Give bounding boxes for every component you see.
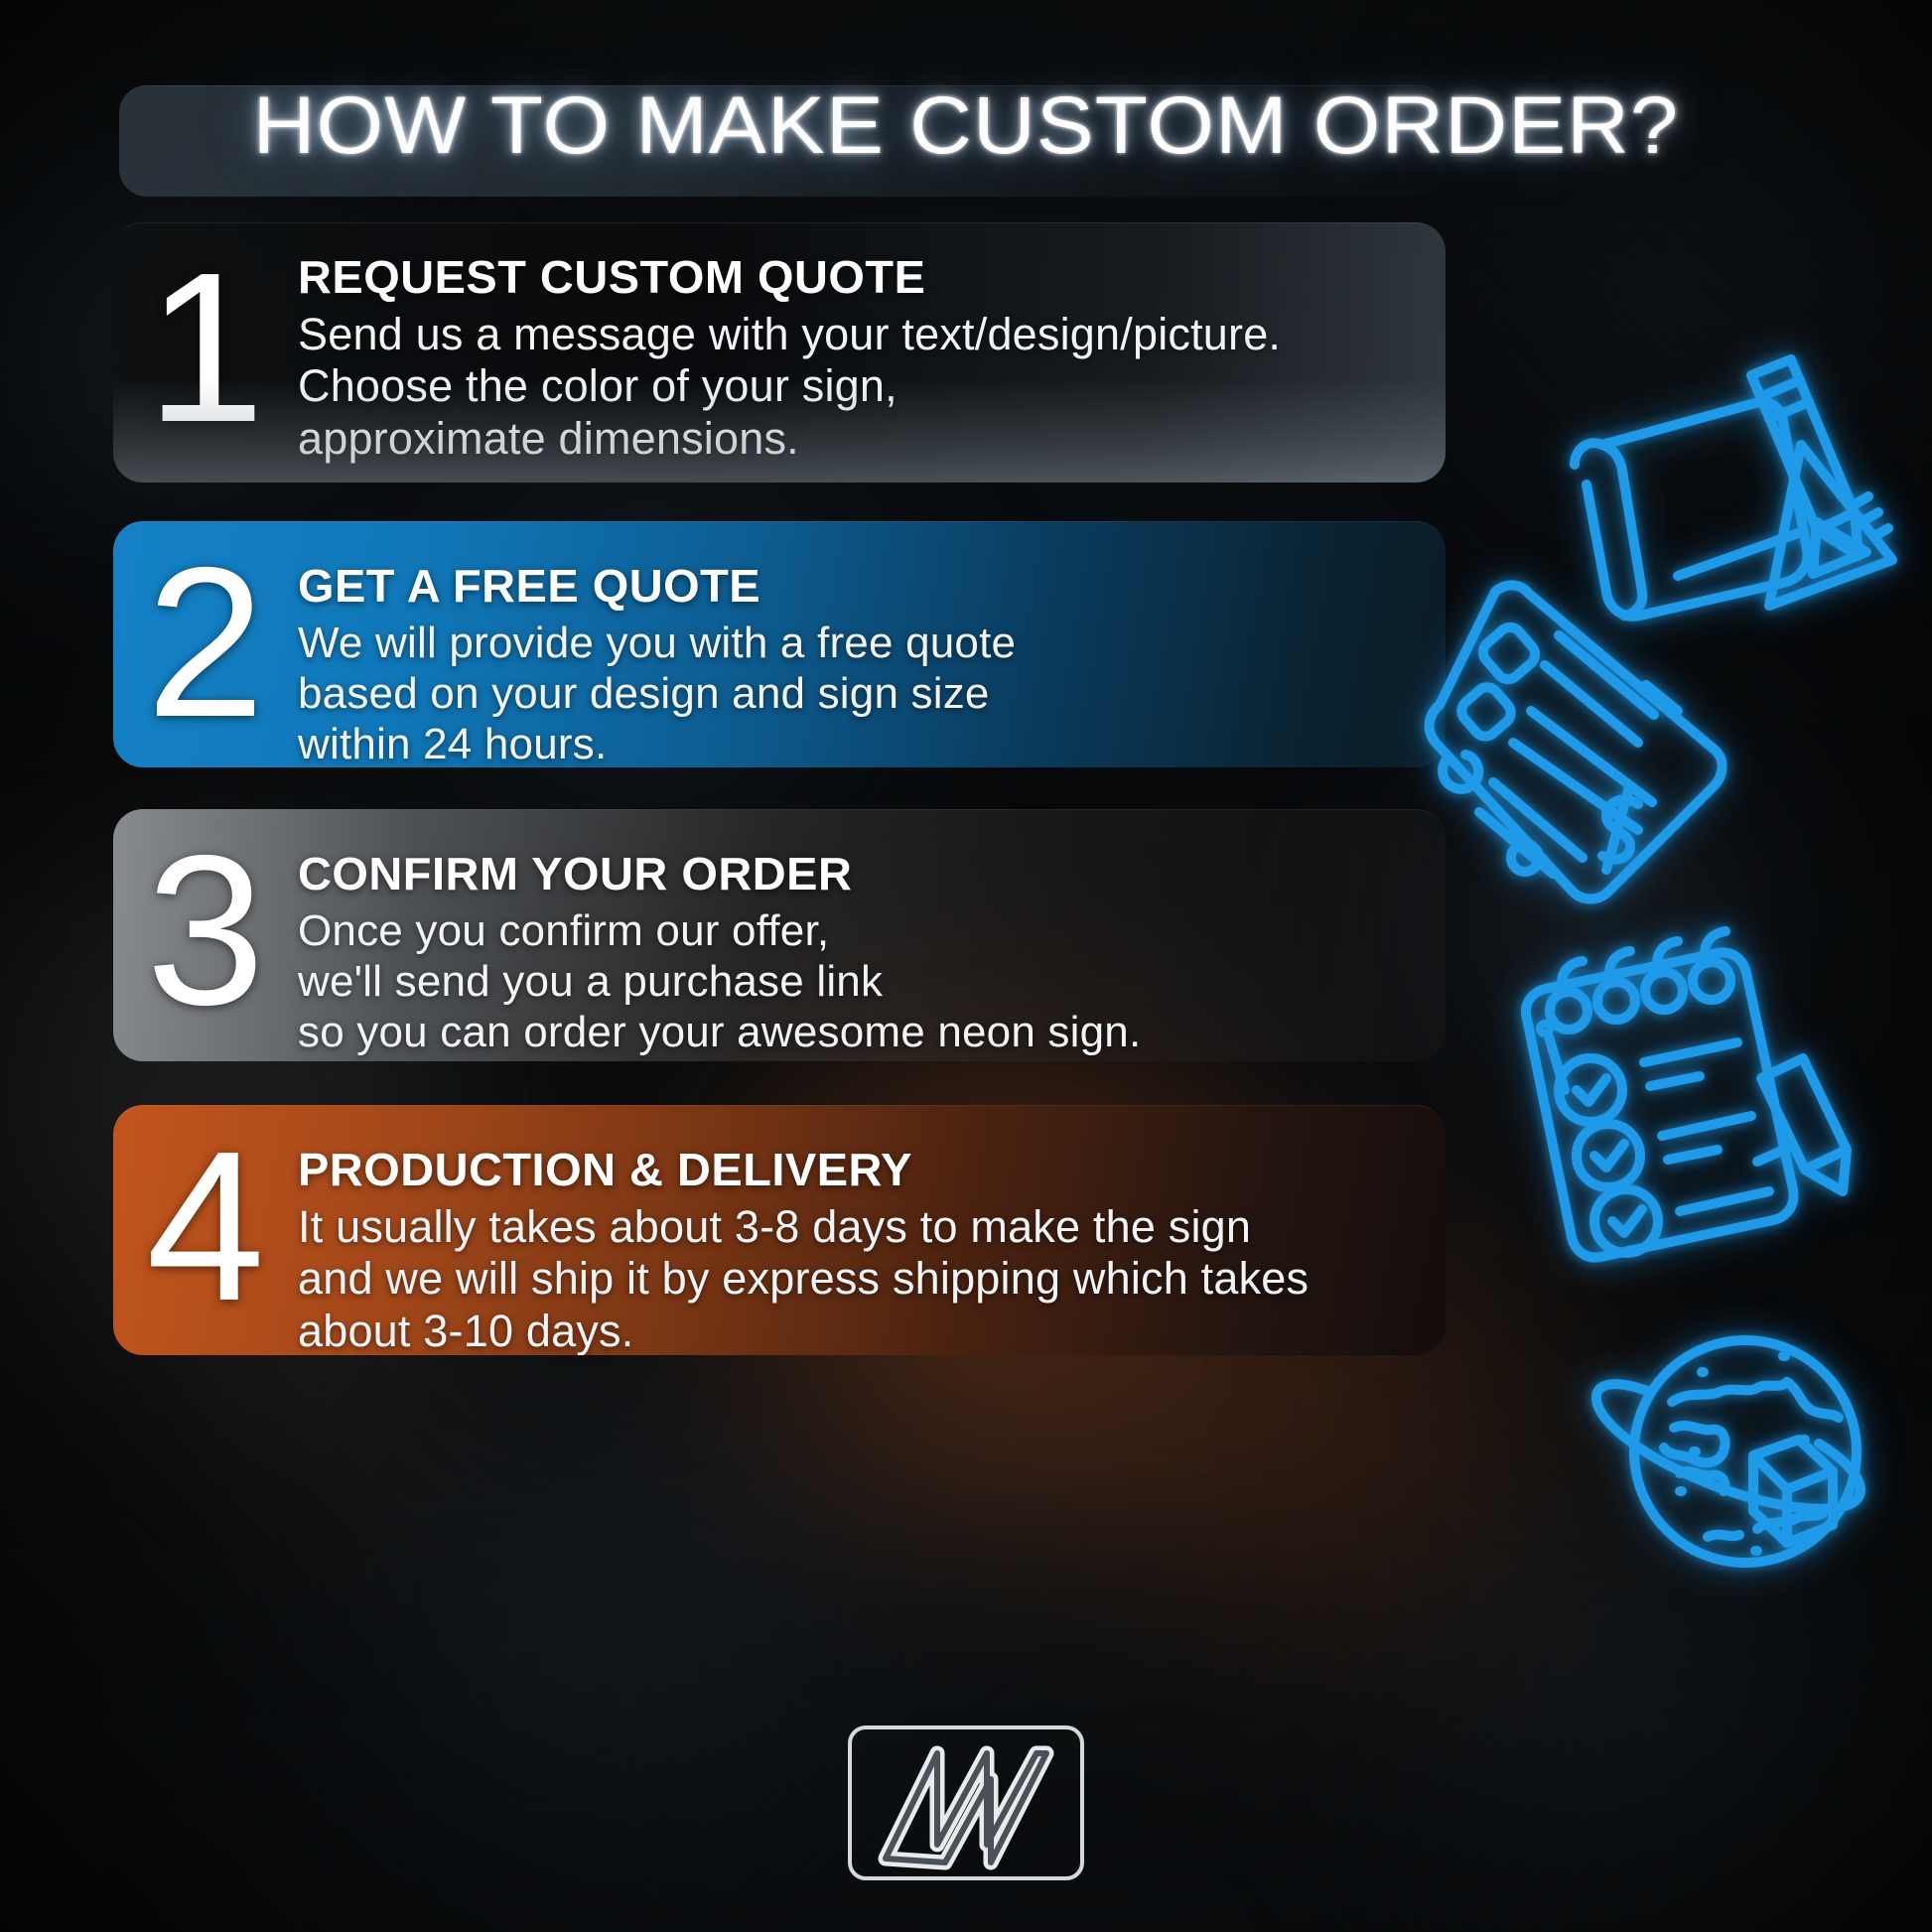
- step-card-3: 3 CONFIRM YOUR ORDER Once you confirm ou…: [113, 809, 1446, 1061]
- step-card-4: 4 PRODUCTION & DELIVERY It usually takes…: [113, 1105, 1446, 1355]
- infographic-canvas: HOW TO MAKE CUSTOM ORDER? 1 REQUEST CUST…: [0, 0, 1932, 1932]
- checklist-notepad-pencil-icon: [1505, 951, 1833, 1289]
- step-description-2: We will provide you with a free quote ba…: [298, 618, 1428, 767]
- step-description-4: It usually takes about 3-8 days to make …: [298, 1201, 1428, 1355]
- step-description-1: Send us a message with your text/design/…: [298, 309, 1428, 465]
- globe-package-shipping-icon: [1588, 1307, 1896, 1604]
- pencil-paper-ruler-icon: [1557, 345, 1904, 653]
- step-title-1: REQUEST CUSTOM QUOTE: [298, 253, 1446, 301]
- step-number-4: 4: [113, 1106, 298, 1324]
- step-card-1: 1 REQUEST CUSTOM QUOTE Send us a message…: [113, 222, 1446, 483]
- step-title-3: CONFIRM YOUR ORDER: [298, 850, 1446, 897]
- invoice-dollar-icon: [1418, 574, 1745, 911]
- page-title: HOW TO MAKE CUSTOM ORDER?: [0, 85, 1932, 167]
- step-title-2: GET A FREE QUOTE: [298, 562, 1446, 610]
- brand-logo: [842, 1714, 1090, 1902]
- step-card-2: 2 GET A FREE QUOTE We will provide you w…: [113, 521, 1446, 767]
- step-title-4: PRODUCTION & DELIVERY: [298, 1146, 1446, 1193]
- step-number-1: 1: [113, 223, 298, 446]
- step-number-2: 2: [113, 522, 298, 741]
- step-description-3: Once you confirm our offer, we'll send y…: [298, 905, 1428, 1057]
- step-number-3: 3: [113, 810, 298, 1029]
